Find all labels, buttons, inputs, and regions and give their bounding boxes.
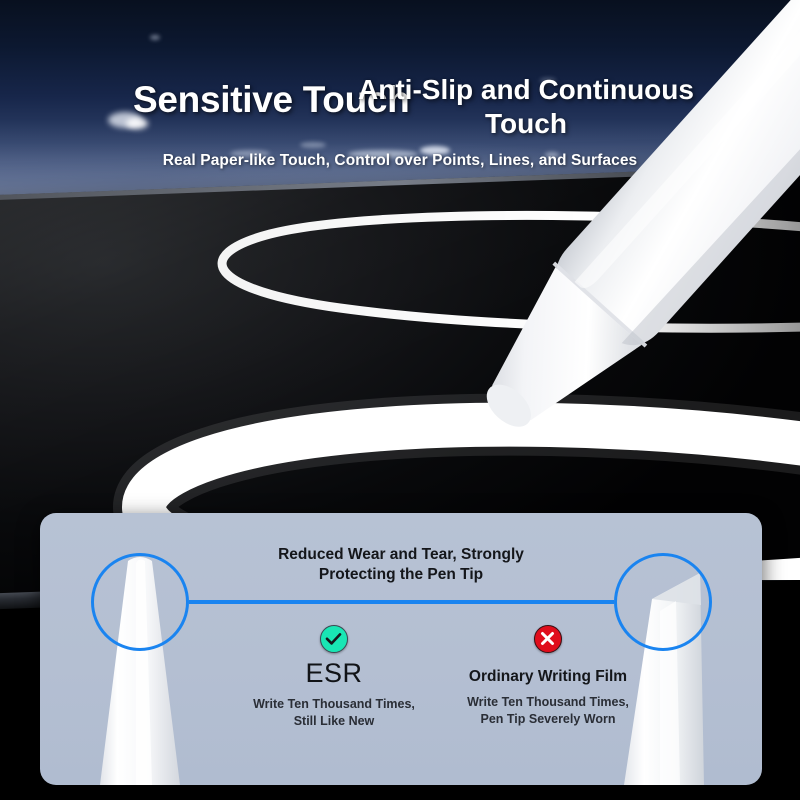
hero-subtitle: Real Paper-like Touch, Control over Poin… bbox=[0, 152, 800, 170]
connector-line bbox=[189, 600, 614, 604]
column-caption-esr: Write Ten Thousand Times, Still Like New bbox=[229, 696, 439, 729]
panel-heading-line2: Protecting the Pen Tip bbox=[201, 565, 601, 585]
panel-heading-line1: Reduced Wear and Tear, Strongly bbox=[201, 545, 601, 565]
comparison-panel: Reduced Wear and Tear, Strongly Protecti… bbox=[40, 513, 762, 785]
column-title-ordinary: Ordinary Writing Film bbox=[443, 659, 653, 685]
comparison-column-ordinary: Ordinary Writing Film Write Ten Thousand… bbox=[443, 625, 653, 727]
check-circle-icon bbox=[320, 625, 348, 653]
caption-line2: Still Like New bbox=[229, 713, 439, 729]
column-title-esr: ESR bbox=[229, 659, 439, 687]
panel-heading: Reduced Wear and Tear, Strongly Protecti… bbox=[201, 545, 601, 585]
column-caption-ordinary: Write Ten Thousand Times, Pen Tip Severe… bbox=[443, 694, 653, 727]
caption-line1: Write Ten Thousand Times, bbox=[443, 694, 653, 710]
caption-line1: Write Ten Thousand Times, bbox=[229, 696, 439, 712]
caption-line2: Pen Tip Severely Worn bbox=[443, 711, 653, 727]
highlight-circle-esr bbox=[91, 553, 189, 651]
product-banner: Sensitive Touch Anti-Slip and Continuous… bbox=[0, 0, 800, 800]
cross-circle-icon bbox=[534, 625, 562, 653]
comparison-column-esr: ESR Write Ten Thousand Times, Still Like… bbox=[229, 625, 439, 729]
headline-anti-slip: Anti-Slip and Continuous Touch bbox=[343, 73, 709, 141]
